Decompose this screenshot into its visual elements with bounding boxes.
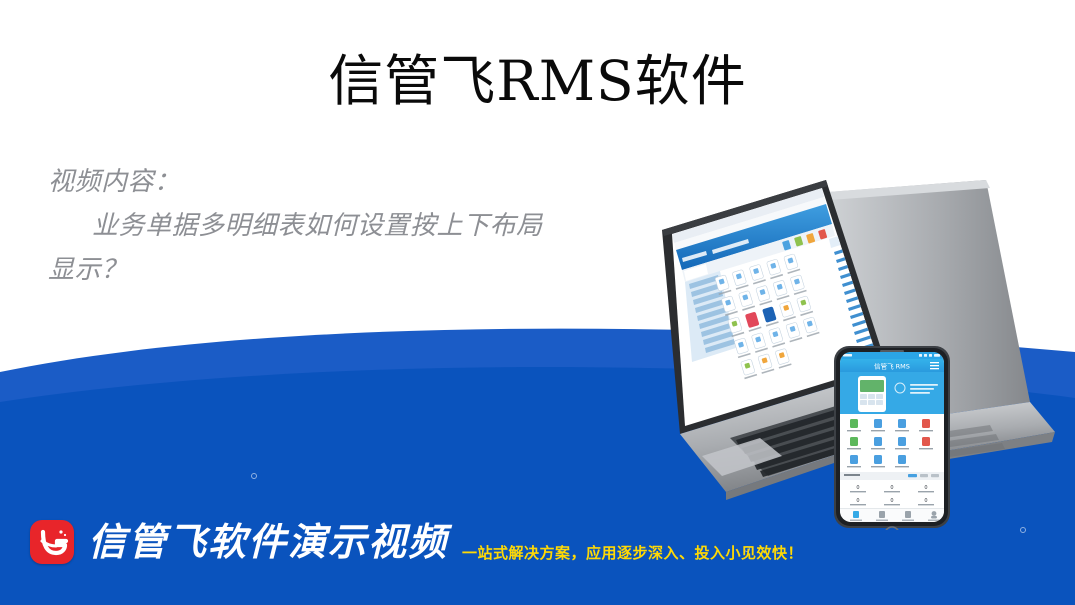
phone-menu-icon — [930, 362, 939, 369]
decorative-dot — [1020, 527, 1026, 533]
banner-tagline-text: 一站式解决方案，应用逐步深入、投入小见效快！ — [462, 542, 803, 563]
svg-text:0: 0 — [890, 498, 893, 504]
svg-text:0: 0 — [924, 498, 927, 504]
svg-text:0: 0 — [890, 485, 893, 491]
video-content-line-2: 显示？ — [48, 248, 648, 292]
video-content-label: 视频内容： — [48, 160, 648, 204]
presentation-slide: 信管飞 RMS — [0, 0, 1075, 605]
xinguanfei-logo-icon — [30, 520, 74, 564]
decorative-dot — [251, 473, 257, 479]
smartphone-front: 信管飞 RMS — [834, 346, 950, 530]
video-content-block: 视频内容： 业务单据多明细表如何设置按上下布局 显示？ — [48, 160, 648, 292]
bottom-banner: 信管飞软件演示视频 一站式解决方案，应用逐步深入、投入小见效快！ — [30, 517, 803, 567]
svg-text:0: 0 — [856, 485, 859, 491]
video-content-line-1: 业务单据多明细表如何设置按上下布局 — [48, 204, 648, 248]
svg-text:0: 0 — [924, 485, 927, 491]
svg-text:0: 0 — [856, 498, 859, 504]
phone-screen-content: 信管飞 RMS — [840, 352, 944, 524]
page-title: 信管飞RMS软件 — [0, 48, 1075, 114]
phone-app-title: 信管飞 RMS — [874, 362, 910, 371]
banner-brand-text: 信管飞软件演示视频 — [88, 520, 448, 564]
